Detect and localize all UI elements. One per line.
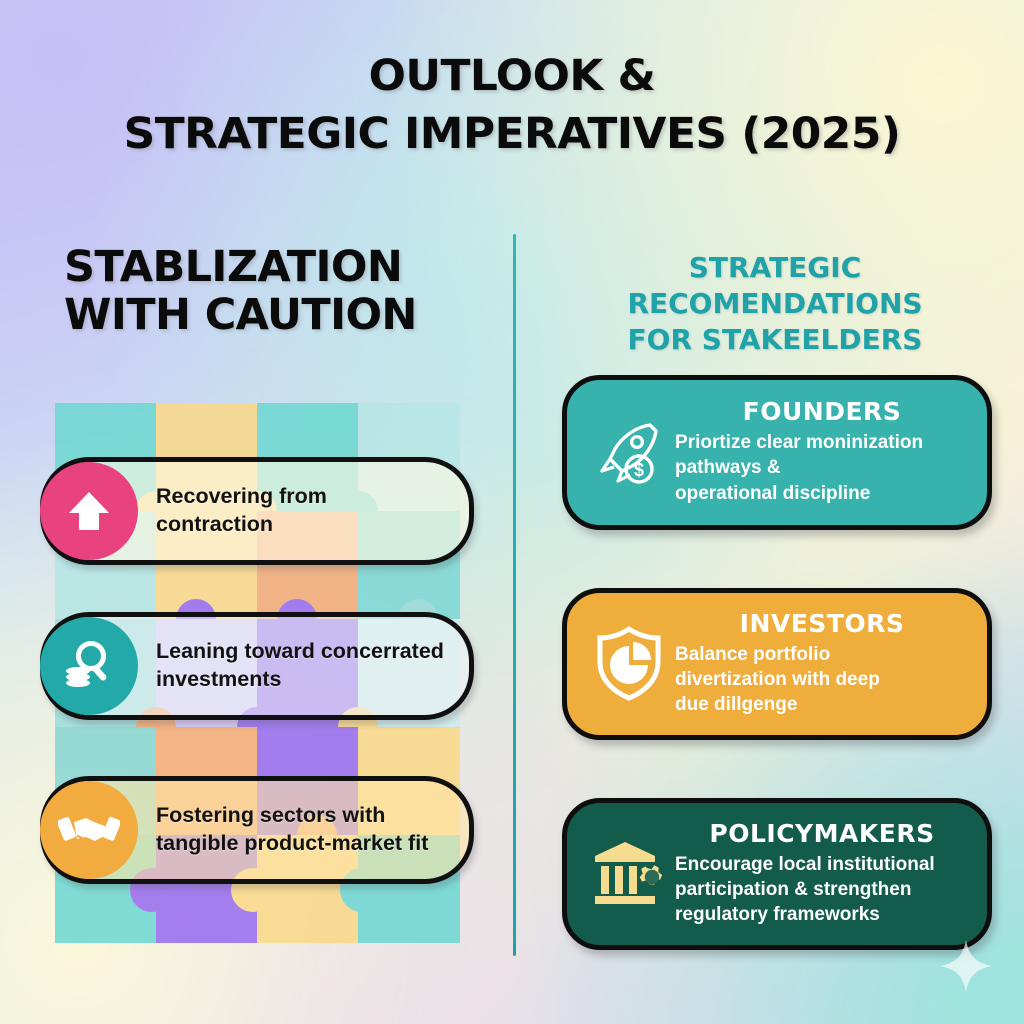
recommendation-card-body: FOUNDERS Priortize clear moninization pa… bbox=[675, 397, 969, 506]
left-section-heading: STABLIZATION WITH CAUTION bbox=[64, 243, 494, 339]
recommendation-card-policymakers[interactable]: POLICYMAKERS Encourage local institution… bbox=[562, 798, 992, 950]
arrow-up-icon bbox=[40, 462, 138, 560]
insight-card-line2: tangible product-market fit bbox=[156, 830, 428, 858]
recommendation-card-title: INVESTORS bbox=[675, 609, 969, 638]
page-title-line2: STRATEGIC IMPERATIVES (2025) bbox=[0, 106, 1024, 164]
recommendation-card-desc: Encourage local institutional participat… bbox=[675, 852, 969, 928]
page-title-line1: OUTLOOK & bbox=[369, 51, 656, 101]
recommendation-card-investors[interactable]: INVESTORS Balance portfolio divertizatio… bbox=[562, 588, 992, 740]
insight-card-text: Recovering from contraction bbox=[156, 483, 345, 538]
insight-card-line1: Fostering sectors with bbox=[156, 802, 428, 830]
insight-card-recovering[interactable]: Recovering from contraction bbox=[40, 457, 474, 565]
recommendation-desc-line1: Priortize clear moninization bbox=[675, 430, 969, 455]
insight-card-line1: Recovering from bbox=[156, 483, 327, 511]
bank-gear-icon bbox=[583, 836, 675, 910]
recommendation-card-body: INVESTORS Balance portfolio divertizatio… bbox=[675, 609, 969, 718]
recommendation-card-body: POLICYMAKERS Encourage local institution… bbox=[675, 819, 969, 928]
recommendation-desc-line2: participation & strengthen bbox=[675, 877, 969, 902]
insight-card-text: Leaning toward concerrated investments bbox=[156, 638, 462, 693]
right-section-heading: STRATEGIC RECOMENDATIONS FOR STAKEELDERS bbox=[545, 250, 1005, 357]
recommendation-card-title: FOUNDERS bbox=[675, 397, 969, 426]
sparkle-icon bbox=[938, 938, 994, 994]
recommendation-card-desc: Balance portfolio divertization with dee… bbox=[675, 642, 969, 718]
recommendation-desc-line3: operational discipline bbox=[675, 481, 969, 506]
right-heading-line2: FOR STAKEELDERS bbox=[545, 322, 1005, 358]
insight-card-text: Fostering sectors with tangible product-… bbox=[156, 802, 446, 857]
insight-card-fostering[interactable]: Fostering sectors with tangible product-… bbox=[40, 776, 474, 884]
recommendation-desc-line1: Encourage local institutional bbox=[675, 852, 969, 877]
recommendation-desc-line1: Balance portfolio bbox=[675, 642, 969, 667]
insight-card-line1: Leaning toward concerrated bbox=[156, 638, 444, 666]
recommendation-card-desc: Priortize clear moninization pathways & … bbox=[675, 430, 969, 506]
recommendation-desc-line3: due dillgenge bbox=[675, 692, 969, 717]
insight-card-concentrated[interactable]: Leaning toward concerrated investments bbox=[40, 612, 474, 720]
svg-text:$: $ bbox=[634, 460, 644, 480]
left-heading-line2: WITH CAUTION bbox=[64, 291, 494, 339]
handshake-icon bbox=[40, 781, 138, 879]
recommendation-desc-line2: pathways & bbox=[675, 455, 969, 480]
magnifier-coins-icon bbox=[40, 617, 138, 715]
insight-card-line2: investments bbox=[156, 666, 444, 694]
right-heading-line1: STRATEGIC RECOMENDATIONS bbox=[545, 250, 1005, 322]
recommendation-desc-line2: divertization with deep bbox=[675, 667, 969, 692]
recommendation-card-founders[interactable]: $ FOUNDERS Priortize clear moninization … bbox=[562, 375, 992, 530]
shield-piechart-icon bbox=[583, 624, 675, 702]
rocket-dollar-icon: $ bbox=[583, 415, 675, 489]
recommendation-card-title: POLICYMAKERS bbox=[675, 819, 969, 848]
page-title: OUTLOOK & STRATEGIC IMPERATIVES (2025) bbox=[0, 48, 1024, 163]
insight-card-line2: contraction bbox=[156, 511, 327, 539]
recommendation-desc-line3: regulatory frameworks bbox=[675, 902, 969, 927]
left-heading-line1: STABLIZATION bbox=[64, 243, 494, 291]
section-divider bbox=[513, 234, 516, 956]
